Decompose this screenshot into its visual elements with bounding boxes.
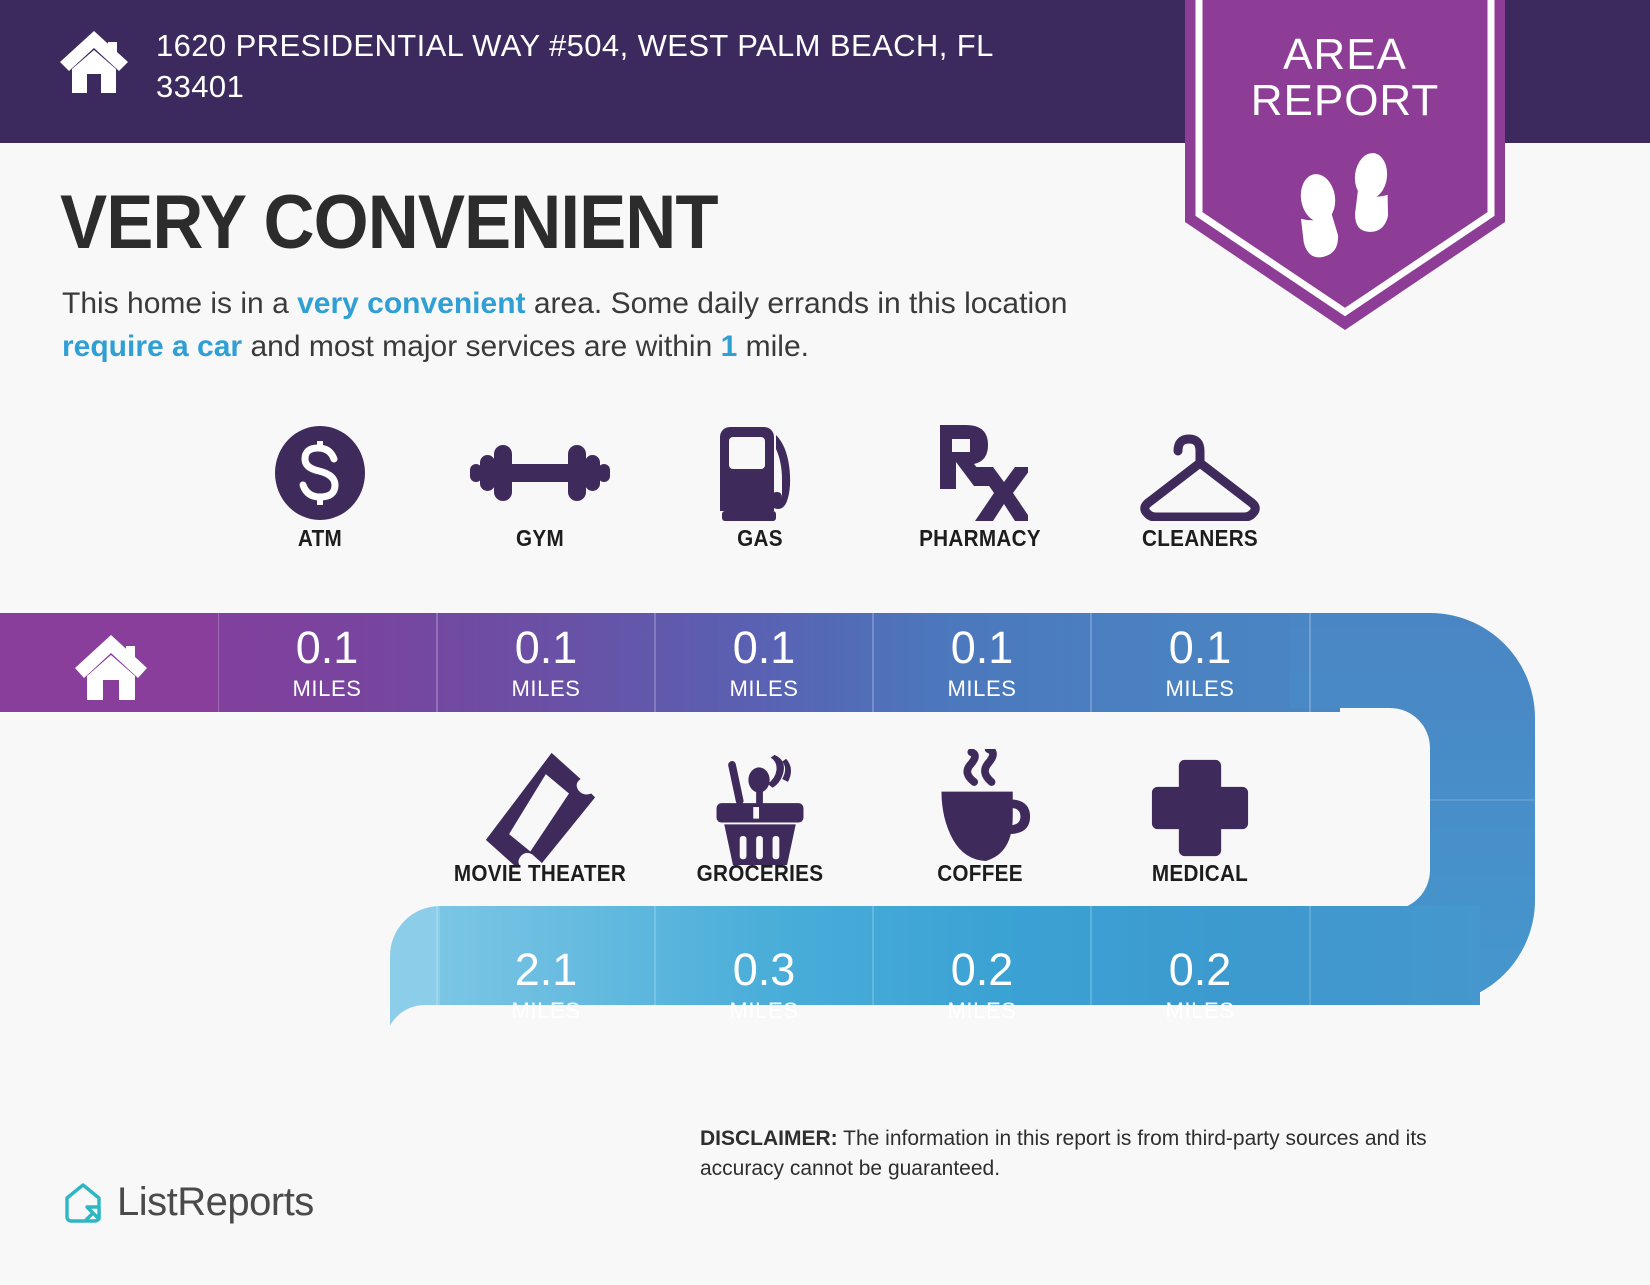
amenity-label: GYM <box>441 525 639 552</box>
movie-ticket-icon <box>430 755 650 860</box>
header-content: 1620 PRESIDENTIAL WAY #504, WEST PALM BE… <box>58 25 1056 107</box>
distance-cell-gym: 0.1 MILES <box>437 625 655 700</box>
listreports-wordmark: ListReports <box>117 1180 314 1225</box>
gas-pump-icon <box>650 420 870 525</box>
origin-home-icon <box>72 632 150 707</box>
distance-cell-pharmacy: 0.1 MILES <box>873 625 1091 700</box>
amenity-label: GROCERIES <box>661 860 859 887</box>
distance-cell-atm: 0.1 MILES <box>218 625 436 700</box>
distance-unit: MILES <box>218 678 436 700</box>
desc-part-0: This home is in a <box>62 287 297 320</box>
desc-highlight-convenient: very convenient <box>297 287 525 320</box>
distance-value: 0.3 <box>655 947 873 992</box>
amenity-atm[interactable]: ATM <box>210 420 430 552</box>
row1-amenity-icons: ATM GYM <box>0 420 1650 570</box>
distance-value: 0.1 <box>437 625 655 670</box>
distance-cell-groceries: 0.3 MILES <box>655 947 873 1022</box>
desc-highlight-car: require a car <box>62 330 242 363</box>
amenity-pharmacy[interactable]: PHARMACY <box>870 420 1090 552</box>
distance-unit: MILES <box>873 1000 1091 1022</box>
desc-part-4: and most major services are within <box>242 330 721 363</box>
distance-value: 0.1 <box>218 625 436 670</box>
desc-highlight-distance: 1 <box>721 330 738 363</box>
amenity-medical[interactable]: MEDICAL <box>1090 755 1310 887</box>
amenity-gas[interactable]: GAS <box>650 420 870 552</box>
listreports-house-icon <box>63 1181 103 1225</box>
distance-unit: MILES <box>655 1000 873 1022</box>
clothes-hanger-icon <box>1090 420 1310 525</box>
distance-cell-medical: 0.2 MILES <box>1091 947 1309 1022</box>
area-report-badge: AREA REPORT <box>1185 0 1505 330</box>
amenity-label: CLEANERS <box>1101 525 1299 552</box>
distance-unit: MILES <box>655 678 873 700</box>
distance-value: 0.1 <box>655 625 873 670</box>
distance-cell-cleaners: 0.1 MILES <box>1091 625 1309 700</box>
distance-cell-coffee: 0.2 MILES <box>873 947 1091 1022</box>
row2-amenity-icons: MOVIE THEATER <box>0 755 1650 905</box>
amenity-label: MOVIE THEATER <box>441 860 639 887</box>
amenity-label: MEDICAL <box>1101 860 1299 887</box>
amenity-movie-theater[interactable]: MOVIE THEATER <box>430 755 650 887</box>
atm-dollar-circle-icon <box>210 420 430 525</box>
distance-unit: MILES <box>437 1000 655 1022</box>
home-icon <box>58 29 130 95</box>
coffee-cup-icon <box>870 755 1090 860</box>
amenity-coffee[interactable]: COFFEE <box>870 755 1090 887</box>
dumbbell-icon <box>430 420 650 525</box>
property-address: 1620 PRESIDENTIAL WAY #504, WEST PALM BE… <box>156 25 1056 107</box>
disclaimer: DISCLAIMER: The information in this repo… <box>700 1124 1510 1184</box>
amenity-label: PHARMACY <box>881 525 1079 552</box>
badge-line-2: REPORT <box>1185 78 1505 124</box>
desc-part-6: mile. <box>737 330 809 363</box>
distance-unit: MILES <box>873 678 1091 700</box>
area-report-infographic: 1620 PRESIDENTIAL WAY #504, WEST PALM BE… <box>0 0 1650 1275</box>
amenity-label: COFFEE <box>881 860 1079 887</box>
badge-line-1: AREA <box>1185 32 1505 78</box>
distance-value: 0.1 <box>1091 625 1309 670</box>
distance-value: 2.1 <box>437 947 655 992</box>
badge-label: AREA REPORT <box>1185 32 1505 124</box>
distance-cell-movie-theater: 2.1 MILES <box>437 947 655 1022</box>
distance-value: 0.2 <box>873 947 1091 992</box>
medical-cross-icon <box>1090 755 1310 860</box>
amenity-cleaners[interactable]: CLEANERS <box>1090 420 1310 552</box>
amenity-label: GAS <box>661 525 859 552</box>
page-description: This home is in a very convenient area. … <box>62 283 1102 368</box>
desc-part-2: area. Some daily errands in this locatio… <box>526 287 1068 320</box>
amenity-groceries[interactable]: GROCERIES <box>650 755 870 887</box>
distance-unit: MILES <box>1091 1000 1309 1022</box>
amenity-gym[interactable]: GYM <box>430 420 650 552</box>
rx-prescription-icon <box>870 420 1090 525</box>
distance-unit: MILES <box>437 678 655 700</box>
distance-unit: MILES <box>1091 678 1309 700</box>
grocery-basket-icon <box>650 755 870 860</box>
listreports-logo[interactable]: ListReports <box>63 1180 314 1225</box>
page-title: VERY CONVENIENT <box>60 185 718 261</box>
distance-value: 0.2 <box>1091 947 1309 992</box>
amenity-label: ATM <box>221 525 419 552</box>
disclaimer-label: DISCLAIMER: <box>700 1127 838 1150</box>
distance-value: 0.1 <box>873 625 1091 670</box>
distance-cell-gas: 0.1 MILES <box>655 625 873 700</box>
